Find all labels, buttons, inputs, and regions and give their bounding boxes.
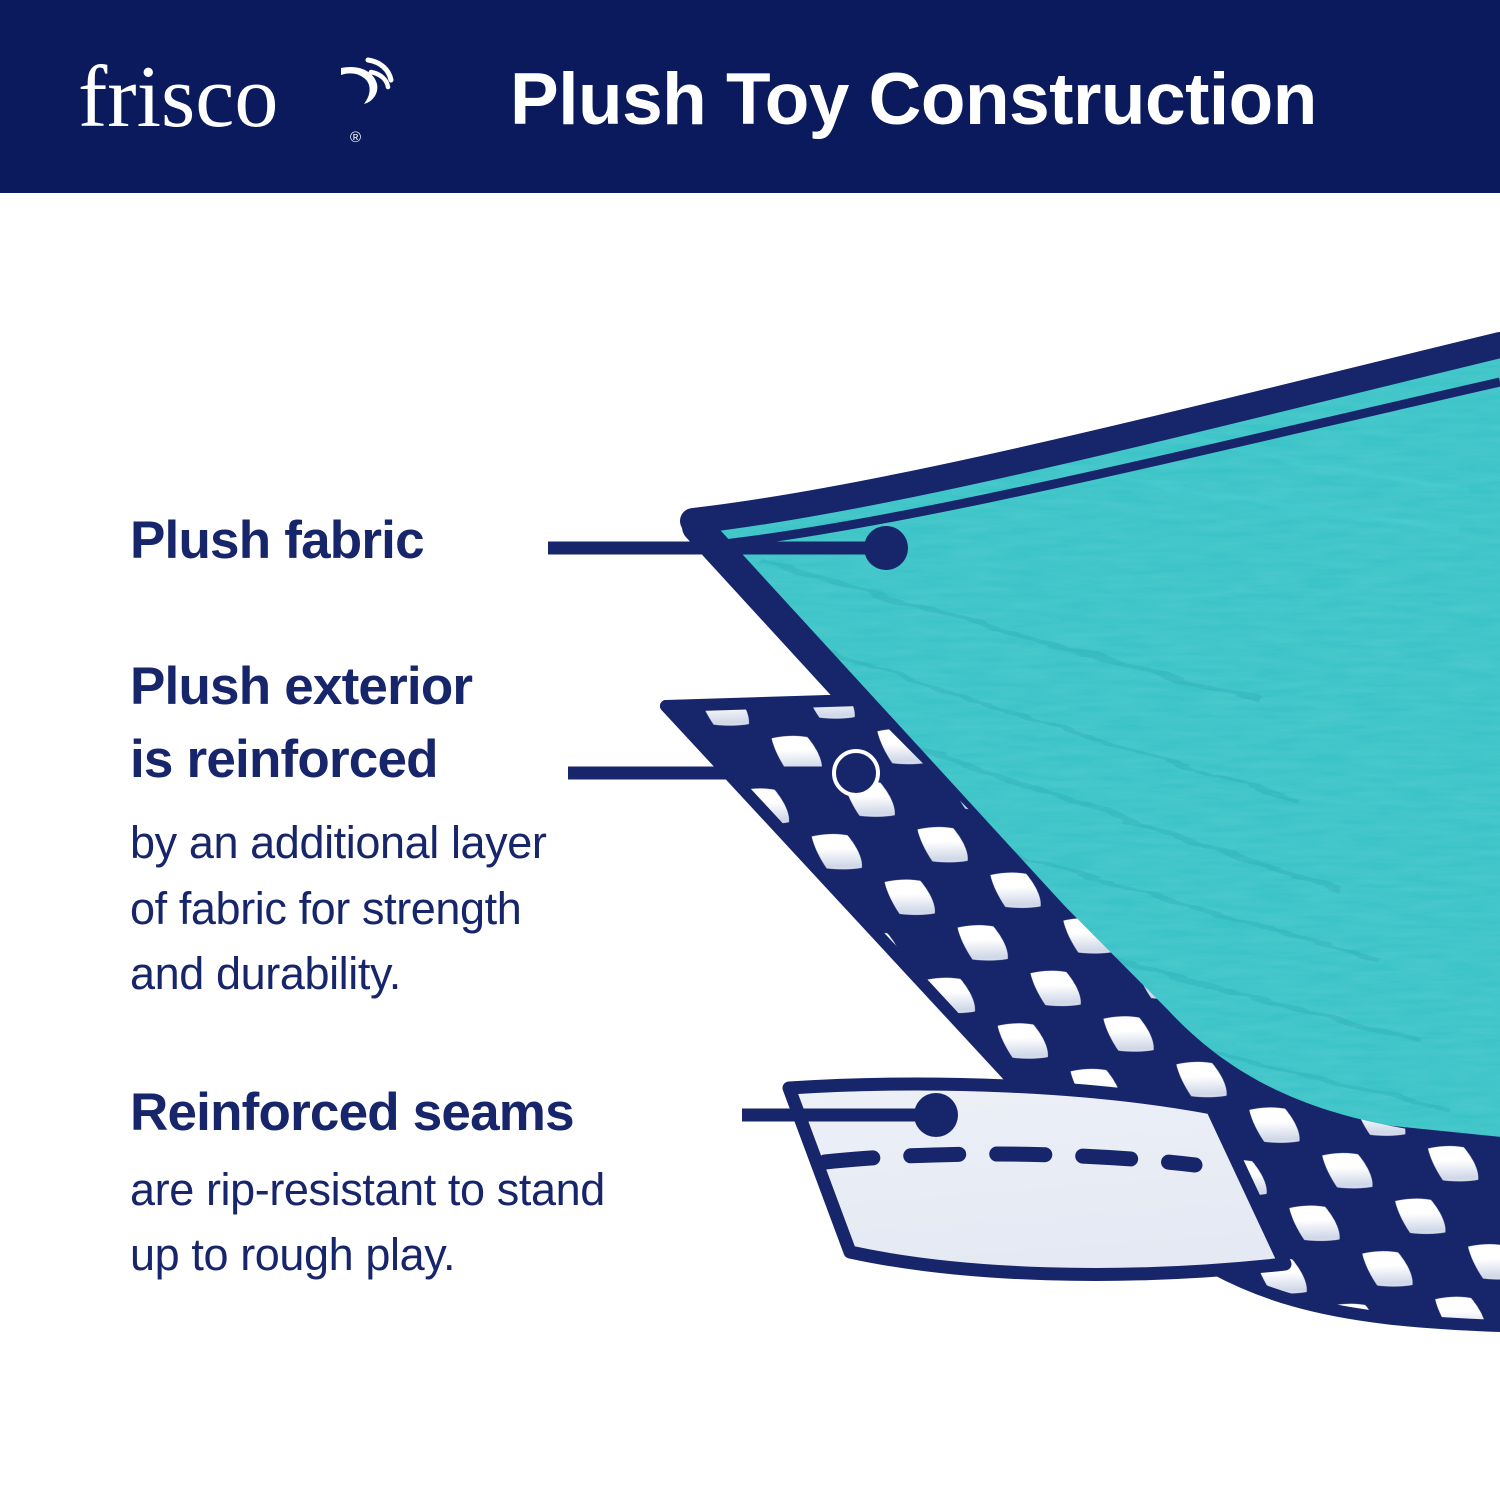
seam-flap xyxy=(789,1084,1285,1274)
callout-reinforced-seams-body: are rip-resistant to stand up to rough p… xyxy=(130,1157,810,1288)
frisco-logo: frisco ® xyxy=(78,50,398,150)
callout-plush-exterior-body: by an additional layer of fabric for str… xyxy=(130,810,750,1006)
plush-fabric-surface xyxy=(650,330,1500,1170)
leader-dot-plush-fabric xyxy=(864,526,908,570)
plush-fabric-fill xyxy=(700,352,1500,1155)
frisco-logo-svg: frisco ® xyxy=(78,50,398,150)
seam-flap-fill xyxy=(789,1084,1285,1274)
callout-plush-fabric: Plush fabric xyxy=(130,504,600,577)
plush-fabric-fur-texture xyxy=(650,330,1500,1170)
callout-plush-exterior-heading: Plush exterior is reinforced xyxy=(130,650,750,796)
seam-stitch-dashed-line xyxy=(825,1154,1195,1165)
plush-fabric-top-edge xyxy=(693,345,1500,521)
callout-reinforced-seams: Reinforced seams are rip-resistant to st… xyxy=(130,1076,810,1288)
header-bar: frisco ® Plush Toy Construction xyxy=(0,0,1500,193)
frisco-logo-wordmark: frisco xyxy=(78,50,278,146)
plush-fabric-fold-edge xyxy=(697,527,1500,1152)
callout-reinforced-seams-heading: Reinforced seams xyxy=(130,1076,810,1149)
plush-fabric-inner-seam-line xyxy=(715,382,1500,545)
registered-trademark-mark: ® xyxy=(350,129,361,146)
leader-dot-plush-exterior xyxy=(834,751,878,795)
leader-dot-reinforced-seams xyxy=(914,1093,958,1137)
callout-plush-fabric-heading: Plush fabric xyxy=(130,504,600,577)
callout-plush-exterior: Plush exterior is reinforced by an addit… xyxy=(130,650,750,1006)
page-title: Plush Toy Construction xyxy=(510,50,1410,150)
